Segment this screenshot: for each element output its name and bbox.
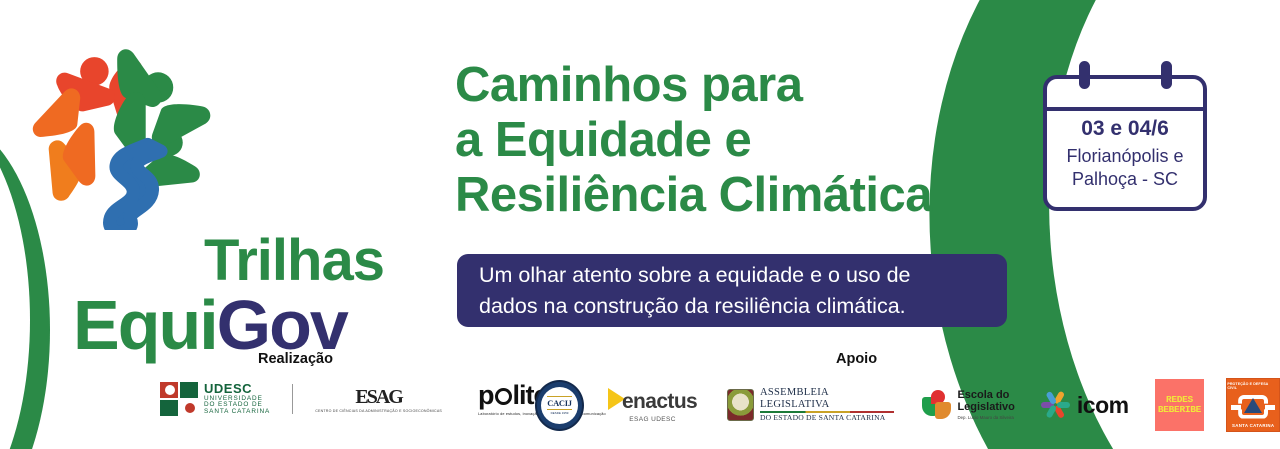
calendar-icon: 03 e 04/6 Florianópolis e Palhoça - SC [1043, 75, 1207, 211]
event-title: Caminhos para a Equidade e Resiliência C… [455, 58, 1030, 223]
udesc-mark-icon [160, 382, 198, 416]
udesc-wordmark: UDESC UNIVERSIDADE DO ESTADO DE SANTA CA… [204, 382, 270, 416]
udesc-logo: UDESC UNIVERSIDADE DO ESTADO DE SANTA CA… [160, 382, 270, 416]
escola-wordmark: Escola do Legislativo Dep. Lúcio Mauro d… [957, 390, 1014, 421]
esag-tagline: CENTRO DE CIÊNCIAS DA ADMINISTRAÇÃO E SO… [315, 409, 442, 413]
redes-beberibe-logo: REDES BEBERIBE [1155, 379, 1205, 431]
trilhas-equigov-people-tree-mark [26, 40, 216, 230]
enactus-logo: enactus ESAG UDESC [608, 388, 697, 423]
subtitle-line-1: Um olhar atento sobre a equidade e o uso… [479, 263, 911, 287]
logo-divider [292, 384, 293, 414]
icom-logo: icom [1041, 390, 1129, 420]
esag-logo: ESAG CENTRO DE CIÊNCIAS DA ADMINISTRAÇÃO… [315, 386, 442, 413]
politeia-ring-icon [495, 388, 512, 405]
escola-leaves-icon [922, 390, 952, 420]
cacij-logo: CACIJ DESDE 1959 [535, 380, 584, 431]
event-location-line-2: Palhoça - SC [1072, 169, 1178, 189]
event-location: Florianópolis e Palhoça - SC [1047, 145, 1203, 190]
icom-pinwheel-icon [1041, 390, 1071, 420]
escola-line-1: Escola do [957, 390, 1014, 402]
title-line-3: Resiliência Climática [455, 168, 1030, 223]
assembleia-legislativa-logo: ASSEMBLEIA LEGISLATIVA DO ESTADO DE SANT… [727, 387, 894, 422]
apoio-label: Apoio [836, 351, 877, 367]
defesa-civil-bottom-text: SANTA CATARINA [1232, 423, 1274, 428]
defesa-civil-symbol-icon [1231, 394, 1275, 420]
assembleia-line-1: ASSEMBLEIA LEGISLATIVA [760, 387, 894, 410]
apoio-logo-row: CACIJ DESDE 1959 enactus ESAG UDESC ASSE… [535, 378, 1280, 432]
event-subtitle-box: Um olhar atento sobre a equidade e o uso… [457, 254, 1007, 327]
brand-logo: Trilhas EquiGov [18, 40, 418, 330]
event-banner: Trilhas EquiGov Caminhos para a Equidade… [0, 0, 1280, 449]
event-location-line-1: Florianópolis e [1066, 146, 1183, 166]
defesa-civil-top-text: PROTEÇÃO E DEFESA CIVIL [1227, 382, 1279, 390]
santa-catarina-crest-icon [727, 389, 754, 421]
realizacao-label: Realização [258, 351, 333, 367]
brand-word-equi: Equi [73, 286, 217, 364]
brand-word-equigov: EquiGov [73, 290, 347, 360]
cacij-acronym: CACIJ [547, 396, 571, 410]
escola-do-legislativo-logo: Escola do Legislativo Dep. Lúcio Mauro d… [922, 390, 1014, 421]
event-date: 03 e 04/6 [1047, 117, 1203, 141]
brand-word-trilhas: Trilhas [204, 232, 384, 290]
cacij-inner: CACIJ DESDE 1959 [541, 387, 578, 424]
cacij-year: DESDE 1959 [551, 411, 569, 415]
udesc-acronym: UDESC [204, 382, 270, 396]
subtitle-line-2: dados na construção da resiliência climá… [479, 294, 906, 318]
enactus-wordmark: enactus [622, 393, 697, 412]
assembleia-wordmark: ASSEMBLEIA LEGISLATIVA DO ESTADO DE SANT… [760, 387, 894, 422]
escola-line-2: Legislativo [957, 402, 1014, 414]
redes-line-2: BEBERIBE [1158, 405, 1201, 415]
event-subtitle: Um olhar atento sobre a equidade e o uso… [479, 260, 911, 321]
assembleia-line-2: DO ESTADO DE SANTA CATARINA [760, 414, 894, 422]
title-line-1: Caminhos para [455, 58, 1030, 113]
calendar-ring-right [1161, 61, 1172, 89]
escola-line-3: Dep. Lúcio Mauro da Silveira [957, 416, 1014, 421]
defesa-civil-logo: PROTEÇÃO E DEFESA CIVIL SANTA CATARINA [1226, 378, 1280, 432]
esag-acronym: ESAG [355, 386, 401, 409]
title-line-2: a Equidade e [455, 113, 1030, 168]
udesc-line-3: SANTA CATARINA [204, 409, 270, 416]
enactus-chapter: ESAG UDESC [629, 416, 676, 423]
icom-wordmark: icom [1077, 392, 1129, 419]
politeia-word-before: p [478, 380, 494, 410]
enactus-top: enactus [608, 388, 697, 412]
calendar-ring-left [1079, 61, 1090, 89]
calendar-divider [1047, 107, 1203, 111]
banner-content: Trilhas EquiGov Caminhos para a Equidade… [0, 0, 1280, 449]
